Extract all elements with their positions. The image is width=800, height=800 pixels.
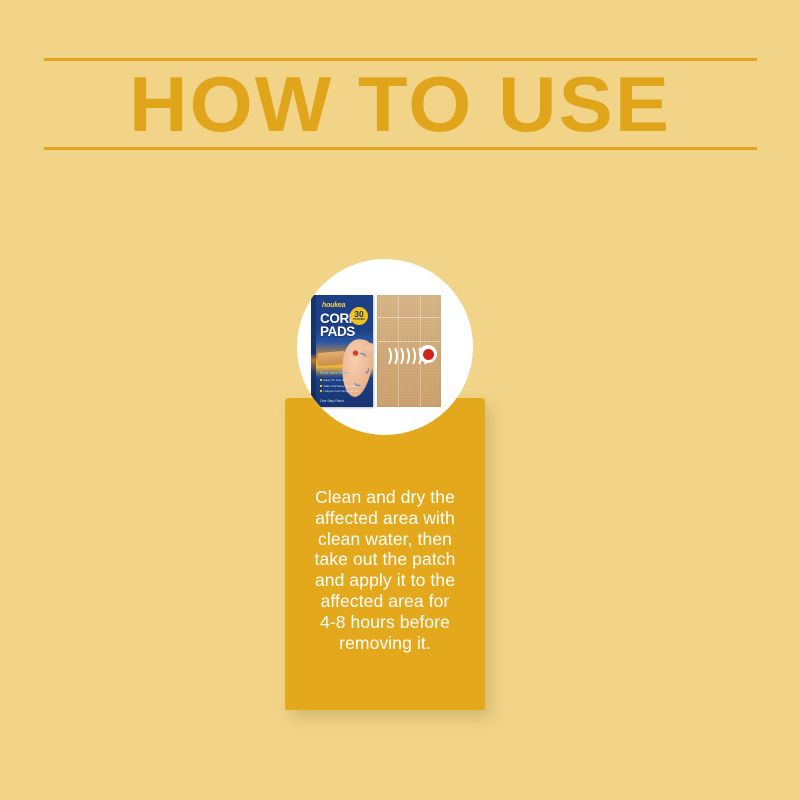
- bullet-icon: [320, 385, 322, 387]
- product-photo: houkea CORN PADS 30 PATCHES Foot Care Pa…: [305, 295, 465, 407]
- pad-strip-illustration: [317, 351, 345, 366]
- pad-sheet-image: [377, 295, 441, 407]
- list-item: Easy To Use Pad: [320, 378, 358, 382]
- bullet-icon: [320, 390, 322, 392]
- product-subtitle-label: Foot Care Pads: [320, 371, 348, 375]
- product-brand-label: houkea: [322, 302, 345, 309]
- box-spine: [311, 295, 316, 407]
- step-instruction-text: Clean and dry the affected area with cle…: [285, 487, 485, 653]
- feature-label: Easy To Use Pad: [324, 378, 348, 382]
- sheet-seam: [377, 341, 441, 342]
- target-dot-icon: [419, 345, 437, 363]
- header: HOW TO USE: [0, 0, 800, 170]
- product-feature-list: Easy To Use Pad Safe And Easy To Use Uni…: [320, 378, 358, 395]
- product-box-image: houkea CORN PADS 30 PATCHES Foot Care Pa…: [311, 295, 373, 407]
- bullet-icon: [320, 379, 322, 381]
- list-item: Safe And Easy To Use: [320, 384, 358, 388]
- list-item: Unique Corn Experience: [320, 389, 358, 393]
- product-photo-circle: houkea CORN PADS 30 PATCHES Foot Care Pa…: [297, 259, 473, 435]
- title-rule-bottom: [44, 147, 757, 150]
- count-badge: 30 PATCHES: [350, 307, 368, 325]
- feature-label: Safe And Easy To Use: [324, 384, 356, 388]
- count-badge-unit: PATCHES: [353, 319, 364, 322]
- feature-label: Unique Corn Experience: [324, 389, 359, 393]
- product-footer-note: One Step Patch: [320, 399, 344, 403]
- page-title: HOW TO USE: [0, 62, 800, 146]
- sheet-seam: [377, 317, 441, 318]
